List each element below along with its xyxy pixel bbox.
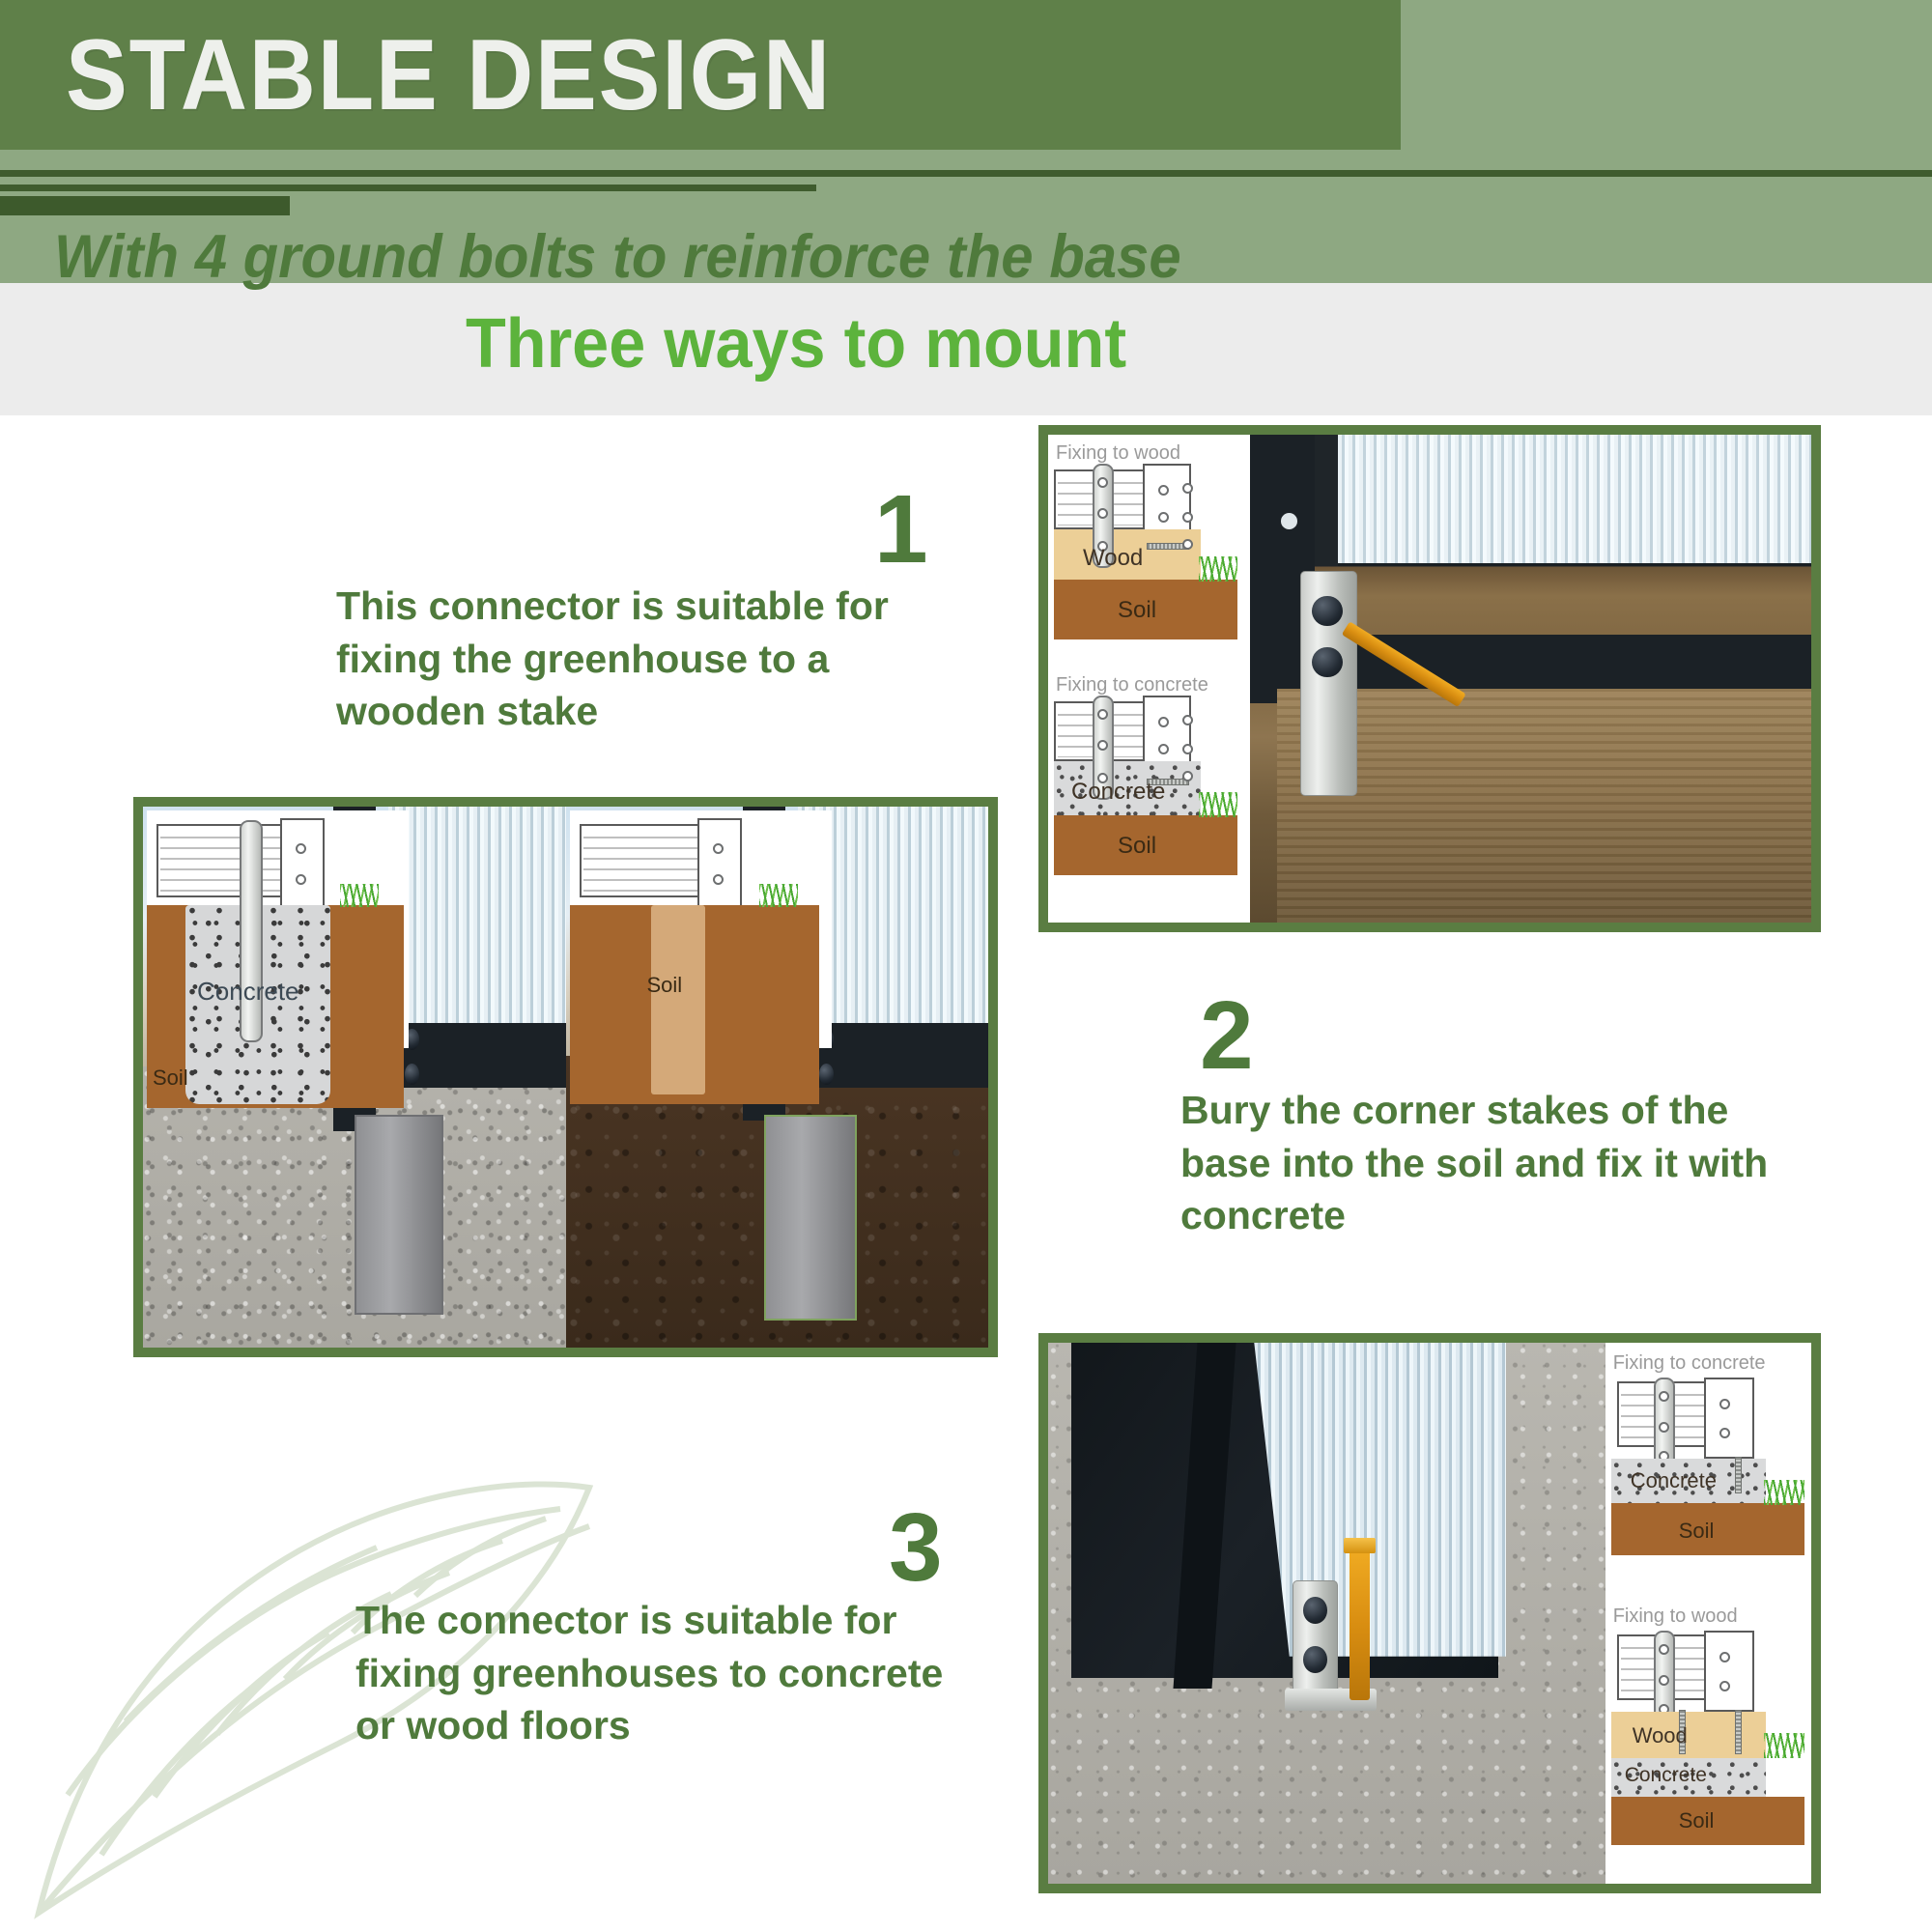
diagram-caption-fixing-to-concrete-2: Fixing to concrete: [1613, 1352, 1766, 1375]
wooden-stake-image: [1277, 689, 1811, 923]
step-1-diagram-overlay: Fixing to wood Wood Soil Fixi: [1048, 435, 1250, 923]
diagram-label-soil-left: Soil: [153, 1065, 188, 1091]
step-2-number: 2: [1200, 987, 1254, 1084]
diagram-label-soil-right: Soil: [647, 973, 683, 998]
header-rule-mid: [0, 185, 816, 191]
diagram-caption-fixing-to-wood: Fixing to wood: [1056, 442, 1180, 465]
bolt-lower-image-2: [1303, 1646, 1327, 1673]
subtitle-secondary: Three ways to mount: [466, 304, 1126, 384]
step-1-number: 1: [874, 481, 928, 578]
step-3-diagram-overlay: Fixing to concrete Concrete Soil Fixing …: [1605, 1343, 1811, 1884]
header-rule-thick: [0, 196, 290, 215]
diagram-label-concrete: Concrete: [1071, 779, 1165, 806]
bolt-lower-image: [1312, 647, 1343, 677]
diagram-caption-fixing-to-wood-2: Fixing to wood: [1613, 1605, 1738, 1628]
step-3-photo: Fixing to concrete Concrete Soil Fixing …: [1038, 1333, 1821, 1893]
diagram-label-soil-top-2: Soil: [1679, 1519, 1715, 1544]
diagram-label-soil-bottom: Soil: [1118, 833, 1156, 860]
diagram-label-soil-bottom-2: Soil: [1679, 1808, 1715, 1833]
screw-head-image-2: [1344, 1538, 1376, 1554]
diagram-label-concrete-left: Concrete: [197, 977, 299, 1007]
diagram-caption-fixing-to-concrete: Fixing to concrete: [1056, 674, 1208, 696]
diagram-label-concrete-top: Concrete: [1631, 1468, 1717, 1493]
page-title: STABLE DESIGN: [66, 25, 832, 126]
page-header: STABLE DESIGN With 4 ground bolts to rei…: [0, 0, 1932, 415]
header-rule-long: [0, 170, 1932, 177]
step-2-photo-left-half: Concrete Soil: [143, 807, 566, 1348]
step-1-description: This connector is suitable for fixing th…: [336, 580, 954, 738]
subtitle-primary: With 4 ground bolts to reinforce the bas…: [54, 222, 1181, 292]
bolt-upper-image: [1312, 596, 1343, 626]
gold-ground-screw-image-2: [1350, 1548, 1370, 1700]
step-3-number: 3: [889, 1499, 943, 1596]
step-2-photo-right-half: Soil: [566, 807, 989, 1348]
diagram-label-wood: Wood: [1083, 545, 1143, 572]
diagram-label-wood-2: Wood: [1633, 1723, 1688, 1748]
diagram-label-soil-top: Soil: [1118, 597, 1156, 624]
step-2-photo: Concrete Soil: [133, 797, 998, 1357]
polycarbonate-panel-image: [1338, 435, 1811, 566]
step-3-description: The connector is suitable for fixing gre…: [355, 1594, 974, 1752]
step-1-photo: Fixing to wood Wood Soil Fixi: [1038, 425, 1821, 932]
step-2-description: Bury the corner stakes of the base into …: [1180, 1084, 1808, 1242]
diagram-label-concrete-bottom: Concrete: [1625, 1764, 1707, 1787]
